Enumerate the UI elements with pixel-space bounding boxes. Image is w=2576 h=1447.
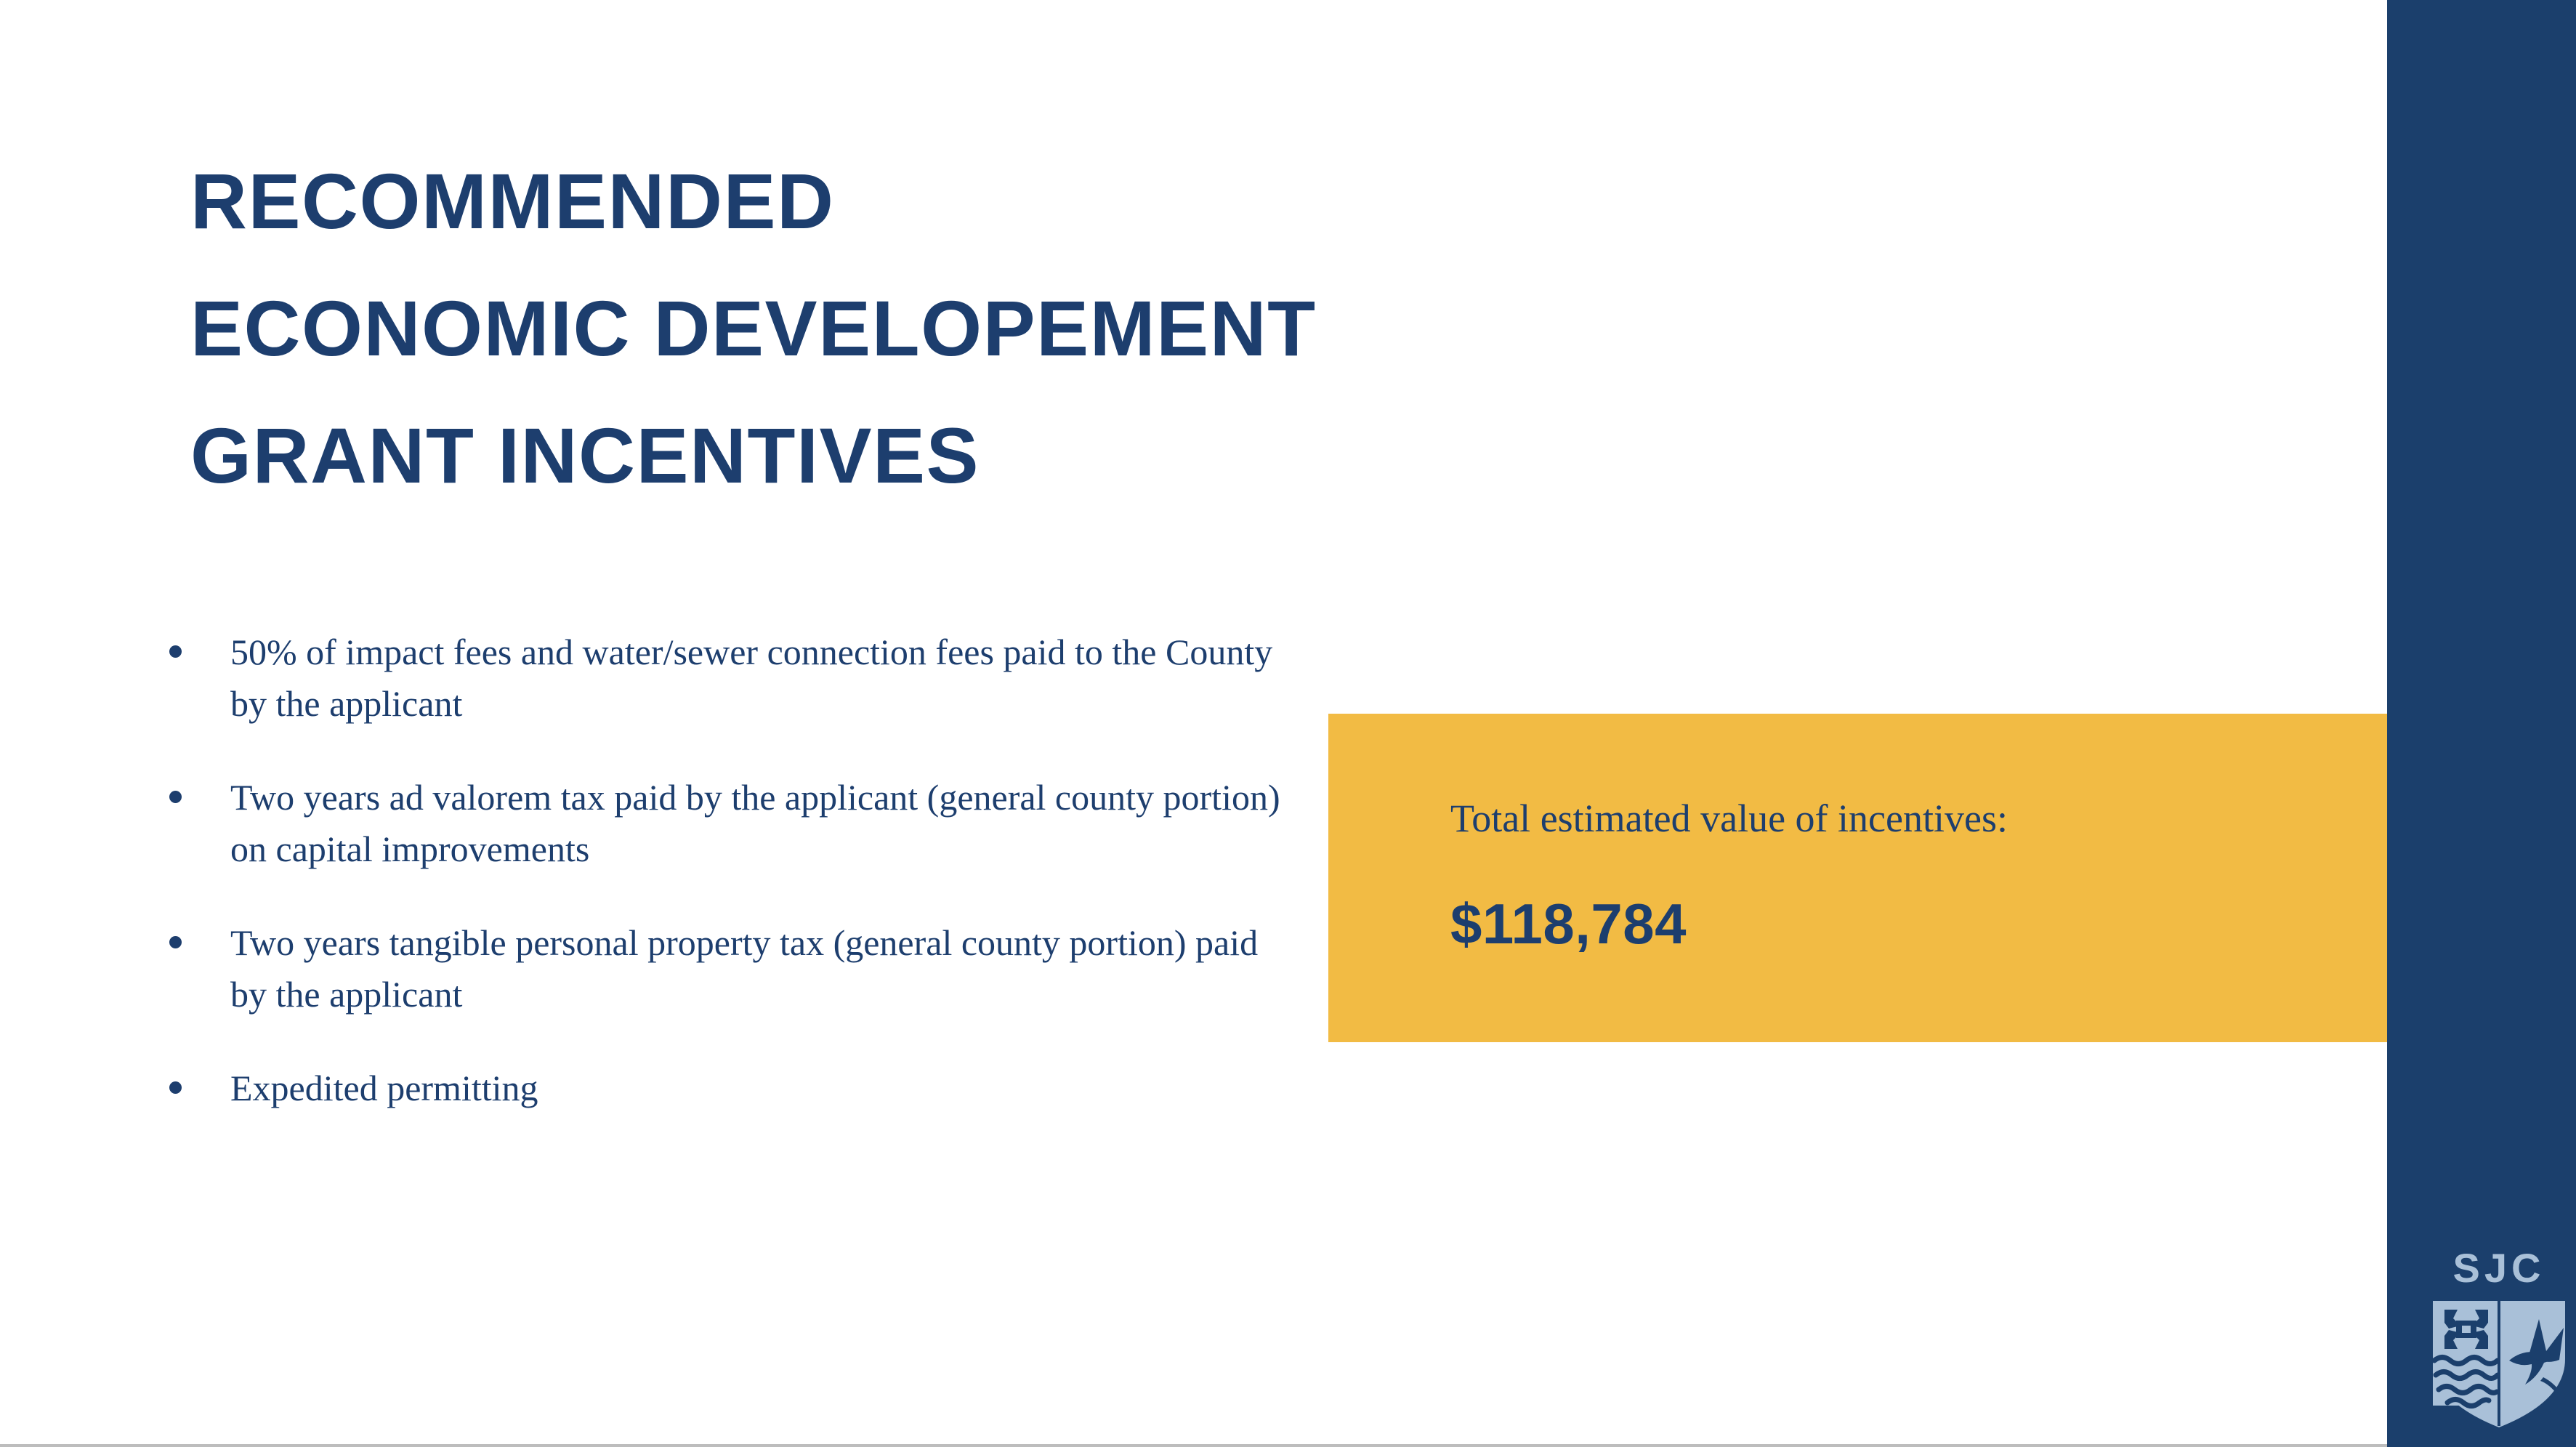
total-value-callout: Total estimated value of incentives: $11… [1328, 714, 2387, 1042]
bullet-dot-icon [169, 1081, 182, 1094]
bullet-dot-icon [169, 645, 182, 658]
title-line-3: GRANT INCENTIVES [190, 392, 1862, 520]
callout-label: Total estimated value of incentives: [1450, 795, 2008, 842]
list-item: Two years ad valorem tax paid by the app… [156, 772, 1290, 875]
bullet-dot-icon [169, 936, 182, 948]
bottom-divider [0, 1444, 2387, 1447]
list-item-text: Expedited permitting [230, 1068, 538, 1108]
right-accent-band [2387, 0, 2576, 1447]
waves-icon [2433, 1353, 2498, 1406]
list-item-text: 50% of impact fees and water/sewer conne… [230, 632, 1272, 724]
callout-amount: $118,784 [1450, 890, 1687, 959]
page-title: RECOMMENDED ECONOMIC DEVELOPEMENT GRANT … [190, 138, 1862, 520]
title-line-1: RECOMMENDED [190, 138, 1862, 265]
list-item-text: Two years tangible personal property tax… [230, 922, 1258, 1015]
title-line-2: ECONOMIC DEVELOPEMENT [190, 265, 1862, 392]
slide-canvas: RECOMMENDED ECONOMIC DEVELOPEMENT GRANT … [0, 0, 2576, 1447]
bullet-dot-icon [169, 791, 182, 803]
list-item: Expedited permitting [156, 1063, 1290, 1114]
sjc-wordmark: SJC [2453, 1245, 2545, 1291]
list-item-text: Two years ad valorem tax paid by the app… [230, 777, 1280, 869]
sjc-shield-icon: SJC [2423, 1237, 2576, 1440]
list-item: Two years tangible personal property tax… [156, 917, 1290, 1020]
incentives-list: 50% of impact fees and water/sewer conne… [156, 626, 1290, 1114]
list-item: 50% of impact fees and water/sewer conne… [156, 626, 1290, 730]
sjc-logo: SJC [2423, 1237, 2576, 1440]
